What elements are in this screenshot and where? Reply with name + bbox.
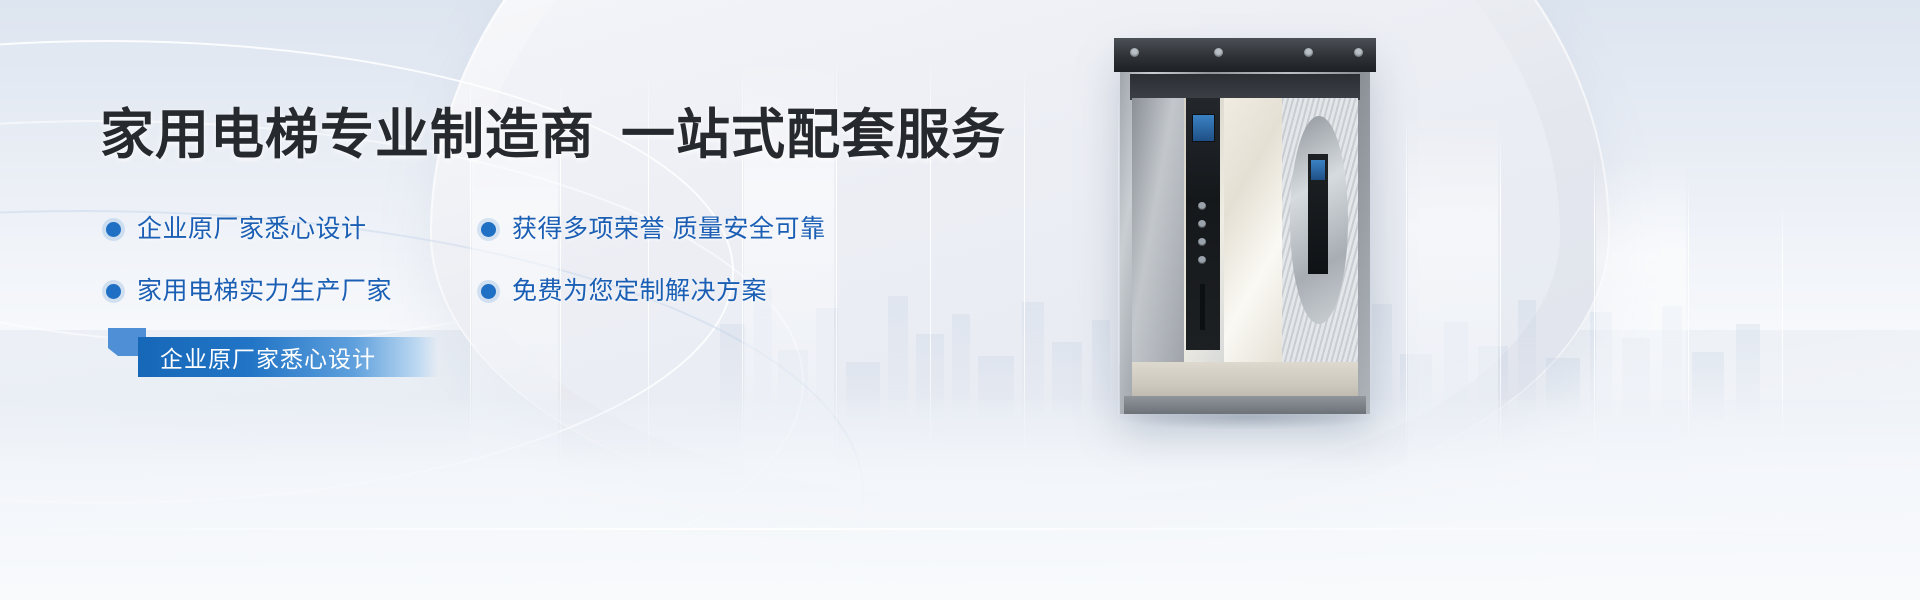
home-elevator-image xyxy=(1120,44,1370,414)
headline-block: 家用电梯专业制造商一站式配套服务 xyxy=(100,104,1080,166)
feature-label: 企业原厂家悉心设计 xyxy=(137,214,367,244)
elevator-top-cap xyxy=(1114,38,1376,72)
ribbon-tag[interactable]: 企业原厂家悉心设计 xyxy=(108,337,146,377)
bolt-icon xyxy=(1214,48,1223,57)
feature-label: 获得多项荣誉 质量安全可靠 xyxy=(512,214,825,244)
elevator-interior xyxy=(1132,98,1358,398)
feature-label: 免费为您定制解决方案 xyxy=(512,276,767,306)
bullet-dot-icon xyxy=(481,284,496,299)
bullet-dot-icon xyxy=(106,222,121,237)
headline-part-2: 一站式配套服务 xyxy=(621,105,1006,165)
elevator-mirror-wall xyxy=(1224,98,1282,398)
elevator-button[interactable] xyxy=(1198,220,1206,228)
ground-highlight xyxy=(0,528,1920,530)
feature-list: 企业原厂家悉心设计 获得多项荣誉 质量安全可靠 家用电梯实力生产厂家 免费为您定… xyxy=(106,214,986,338)
feature-row: 家用电梯实力生产厂家 免费为您定制解决方案 xyxy=(106,276,986,306)
elevator-button[interactable] xyxy=(1198,202,1206,210)
elevator-ceiling xyxy=(1130,74,1360,100)
feature-item: 获得多项荣誉 质量安全可靠 xyxy=(481,214,856,244)
promo-banner: 家用电梯专业制造商一站式配套服务 企业原厂家悉心设计 获得多项荣誉 质量安全可靠… xyxy=(0,0,1920,600)
bolt-icon xyxy=(1304,48,1313,57)
ribbon-label: 企业原厂家悉心设计 xyxy=(138,340,376,374)
feature-item: 家用电梯实力生产厂家 xyxy=(106,276,481,306)
ground-reflection xyxy=(0,400,1920,600)
elevator-secondary-display xyxy=(1311,160,1325,180)
bolt-icon xyxy=(1354,48,1363,57)
bullet-dot-icon xyxy=(106,284,121,299)
feature-item: 企业原厂家悉心设计 xyxy=(106,214,481,244)
feature-item: 免费为您定制解决方案 xyxy=(481,276,856,306)
elevator-left-wall xyxy=(1132,98,1184,398)
feature-label: 家用电梯实力生产厂家 xyxy=(137,276,392,306)
elevator-base xyxy=(1124,396,1366,414)
ribbon-body: 企业原厂家悉心设计 xyxy=(138,337,438,377)
bullet-dot-icon xyxy=(481,222,496,237)
headline-part-1: 家用电梯专业制造商 xyxy=(100,105,595,165)
elevator-panel-strip xyxy=(1200,284,1205,330)
feature-row: 企业原厂家悉心设计 获得多项荣誉 质量安全可靠 xyxy=(106,214,986,244)
elevator-floor-display xyxy=(1192,114,1215,142)
elevator-button[interactable] xyxy=(1198,256,1206,264)
page-title: 家用电梯专业制造商一站式配套服务 xyxy=(100,104,1080,166)
bolt-icon xyxy=(1130,48,1139,57)
elevator-button[interactable] xyxy=(1198,238,1206,246)
